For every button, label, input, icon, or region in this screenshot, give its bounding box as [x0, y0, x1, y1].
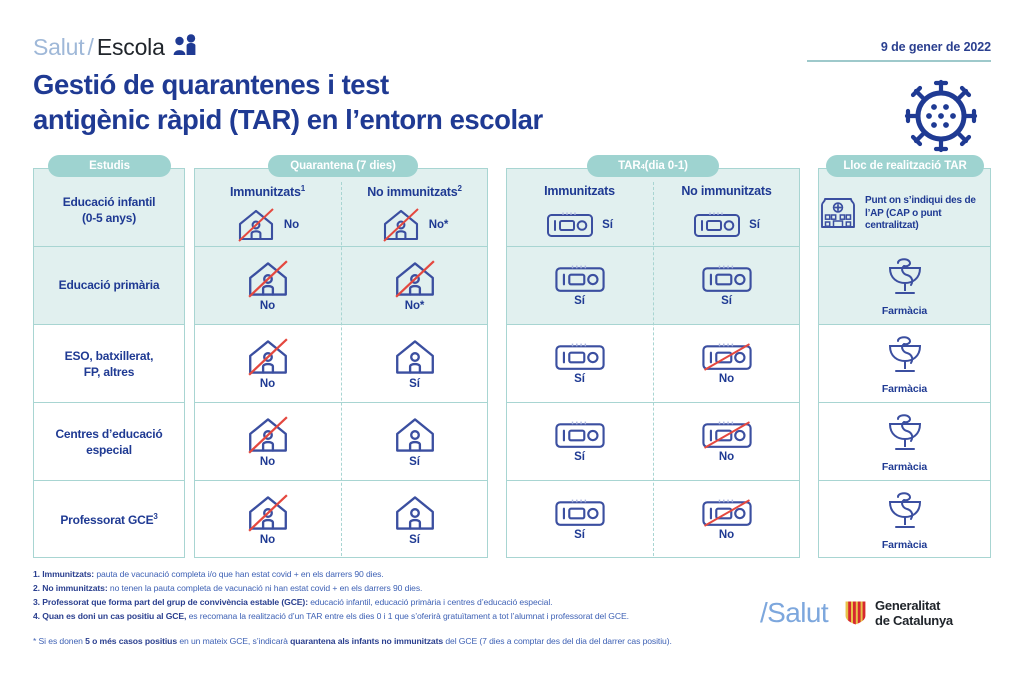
- antigen-test-icon: [554, 264, 606, 294]
- antigen-test-icon: [701, 264, 753, 294]
- cell-row1-lloc: Farmàcia: [818, 247, 991, 324]
- answer-value: Sí: [574, 451, 585, 463]
- antigen-test-icon: [554, 342, 606, 372]
- health-center-icon: [818, 193, 858, 236]
- cell-row1-tar-no-immunitzats: Sí: [653, 247, 800, 324]
- footnote-2: 2. No immunitzats: no tenen la pauta com…: [33, 582, 753, 596]
- house-person-icon: [236, 207, 276, 243]
- subheader-tar-no-immunitzats: No immunitzats: [653, 184, 800, 198]
- group-pill-lloc: Lloc de realització TAR: [826, 155, 984, 177]
- catalonia-shield-icon: [844, 600, 867, 626]
- cell-row2-quar-immunitzats: No: [194, 325, 341, 402]
- page-title-line1: Gestió de quarantenes i test: [33, 68, 683, 103]
- cell-row4-quar-immunitzats: No: [194, 481, 341, 558]
- answer-value: No: [260, 534, 275, 546]
- antigen-test-icon: [554, 498, 606, 528]
- cell-row0-tar-immunitzats: Sí: [506, 204, 653, 246]
- cell-row2-quar-no-immunitzats: Sí: [341, 325, 488, 402]
- cell-row4-quar-no-immunitzats: Sí: [341, 481, 488, 558]
- footnote-3-text: educació infantil, educació primària i c…: [308, 597, 552, 607]
- table-content: Immunitzats1 No immunitzats2 Immunitzats…: [0, 152, 1024, 562]
- cell-row0-lloc: Punt on s’indiqui des de l’AP (CAP o pun…: [818, 182, 991, 246]
- brand-logo: Salut / Escola: [33, 34, 198, 61]
- brand-escola-text: Escola: [97, 34, 165, 61]
- answer-value: No*: [429, 219, 449, 231]
- answer-value: No: [260, 456, 275, 468]
- pharmacy-icon: [884, 489, 926, 536]
- footnote-2-text: no tenen la pauta completa de vacunació …: [108, 583, 423, 593]
- antigen-test-icon: [701, 342, 753, 372]
- answer-value: No: [719, 529, 734, 541]
- brand-slash: /: [87, 34, 93, 61]
- pharmacy-icon: [884, 333, 926, 380]
- coronavirus-icon: [903, 78, 979, 159]
- antigen-test-icon: [554, 420, 606, 450]
- lloc-text: Punt on s’indiqui des de l’AP (CAP o pun…: [865, 195, 991, 233]
- house-person-icon: [245, 337, 291, 377]
- house-person-icon: [245, 259, 291, 299]
- cell-row2-tar-no-immunitzats: No: [653, 325, 800, 402]
- answer-value: Sí: [749, 219, 760, 231]
- page-header: Salut / Escola 9 de gener de 2022 Gestió…: [0, 0, 1024, 152]
- answer-value: No: [719, 451, 734, 463]
- footnote-4-label: 4. Quan es doni un cas positiu al GCE,: [33, 611, 186, 621]
- salut-logo: /Salut: [760, 599, 828, 627]
- answer-value: Sí: [721, 295, 732, 307]
- row-label-professorat-gce: Professorat GCE3: [33, 512, 185, 529]
- house-person-icon: [245, 493, 291, 533]
- cell-row3-lloc: Farmàcia: [818, 403, 991, 480]
- footnote-3-label: 3. Professorat que forma part del grup d…: [33, 597, 308, 607]
- house-person-icon: [381, 207, 421, 243]
- row-label-educacio-infantil: Educació infantil (0-5 anys): [33, 195, 185, 226]
- answer-value: No: [284, 219, 299, 231]
- footnote-1-label: 1. Immunitzats:: [33, 569, 94, 579]
- cell-row3-quar-no-immunitzats: Sí: [341, 403, 488, 480]
- subheader-quar-no-immunitzats: No immunitzats2: [341, 184, 488, 199]
- footnote-asterisk: * Si es donen 5 o més casos positius en …: [33, 635, 753, 649]
- footer-logos: /Salut Generalitat de Catalunya: [760, 598, 953, 629]
- answer-value: Sí: [409, 456, 420, 468]
- date-label: 9 de gener de 2022: [881, 38, 991, 56]
- pharmacy-icon: [884, 411, 926, 458]
- group-pill-estudis: Estudis: [48, 155, 171, 177]
- answer-value: Sí: [409, 378, 420, 390]
- cell-row3-quar-immunitzats: No: [194, 403, 341, 480]
- header-rule: [807, 60, 991, 62]
- group-pill-tar: TAR4 (dia 0-1): [587, 155, 719, 177]
- footnote-1: 1. Immunitzats: pauta de vacunació compl…: [33, 568, 753, 582]
- cell-row1-quar-immunitzats: No: [194, 247, 341, 324]
- footnote-2-label: 2. No immunitzats:: [33, 583, 108, 593]
- cell-row0-tar-no-immunitzats: Sí: [653, 204, 800, 246]
- answer-value: Sí: [602, 219, 613, 231]
- row-label-centres-educacio-especial: Centres d’educació especial: [33, 427, 185, 458]
- subheader-quar-immunitzats: Immunitzats1: [194, 184, 341, 199]
- pharmacy-icon: [884, 255, 926, 302]
- generalitat-logo: Generalitat de Catalunya: [844, 598, 953, 629]
- lloc-text: Farmàcia: [882, 539, 927, 551]
- antigen-test-icon: [701, 498, 753, 528]
- cell-row0-quar-immunitzats: No: [194, 204, 341, 246]
- footnote-4: 4. Quan es doni un cas positiu al GCE, e…: [33, 610, 753, 624]
- lloc-text: Farmàcia: [882, 461, 927, 473]
- answer-value: No: [719, 373, 734, 385]
- answer-value: Sí: [574, 529, 585, 541]
- cell-row1-quar-no-immunitzats: No*: [341, 247, 488, 324]
- subheader-tar-immunitzats: Immunitzats: [506, 184, 653, 198]
- brand-salut-text: Salut: [33, 34, 84, 61]
- cell-row0-quar-no-immunitzats: No*: [341, 204, 488, 246]
- cell-row2-tar-immunitzats: Sí: [506, 325, 653, 402]
- page-title: Gestió de quarantenes i test antigènic r…: [33, 68, 683, 137]
- antigen-test-icon: [693, 211, 741, 239]
- generalitat-text: Generalitat de Catalunya: [875, 598, 953, 629]
- two-people-icon: [172, 34, 198, 61]
- answer-value: Sí: [409, 534, 420, 546]
- house-person-icon: [392, 415, 438, 455]
- cell-row4-tar-no-immunitzats: No: [653, 481, 800, 558]
- cell-row2-lloc: Farmàcia: [818, 325, 991, 402]
- footnotes: 1. Immunitzats: pauta de vacunació compl…: [33, 568, 753, 649]
- antigen-test-icon: [546, 211, 594, 239]
- group-pill-quarantena: Quarantena (7 dies): [268, 155, 418, 177]
- answer-value: Sí: [574, 295, 585, 307]
- answer-value: No: [260, 378, 275, 390]
- answer-value: No*: [405, 300, 425, 312]
- cell-row3-tar-immunitzats: Sí: [506, 403, 653, 480]
- antigen-test-icon: [701, 420, 753, 450]
- row-label-educacio-primaria: Educació primària: [33, 278, 185, 294]
- house-person-icon: [245, 415, 291, 455]
- footnote-1-text: pauta de vacunació completa i/o que han …: [94, 569, 384, 579]
- cell-row1-tar-immunitzats: Sí: [506, 247, 653, 324]
- footnote-3: 3. Professorat que forma part del grup d…: [33, 596, 753, 610]
- house-person-icon: [392, 259, 438, 299]
- house-person-icon: [392, 493, 438, 533]
- footnote-4-text: es recomana la realització d’un TAR entr…: [186, 611, 629, 621]
- cell-row4-tar-immunitzats: Sí: [506, 481, 653, 558]
- row-label-eso-batxillerat: ESO, batxillerat, FP, altres: [33, 349, 185, 380]
- answer-value: No: [260, 300, 275, 312]
- answer-value: Sí: [574, 373, 585, 385]
- page-title-line2: antigènic ràpid (TAR) en l’entorn escola…: [33, 103, 683, 138]
- cell-row3-tar-no-immunitzats: No: [653, 403, 800, 480]
- lloc-text: Farmàcia: [882, 383, 927, 395]
- lloc-text: Farmàcia: [882, 305, 927, 317]
- house-person-icon: [392, 337, 438, 377]
- cell-row4-lloc: Farmàcia: [818, 481, 991, 558]
